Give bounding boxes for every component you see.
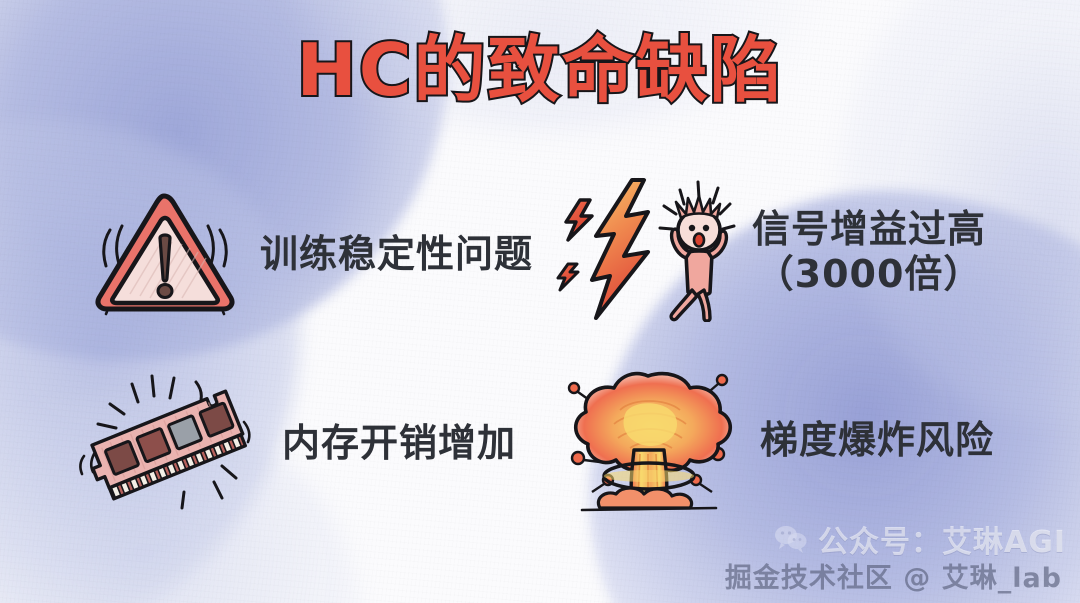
watermark-primary: 掘金技术社区 @ 艾琳_lab (725, 556, 1062, 595)
defect-item-training-stability: 训练稳定性问题 (90, 186, 533, 323)
explosion-mushroom-cloud-icon (548, 358, 748, 523)
wechat-icon (774, 524, 808, 554)
defect-label: 训练稳定性问题 (260, 232, 533, 276)
title-container: HC的致命缺陷 (0, 34, 1080, 106)
defect-item-signal-gain: 信号增益过高 （3000倍） (552, 176, 986, 327)
memory-ram-stick-icon (72, 370, 268, 517)
defect-label: 梯度爆炸风险 (760, 418, 994, 462)
warning-triangle-icon (90, 186, 240, 323)
defect-item-memory-overhead: 内存开销增加 (72, 370, 516, 517)
page-title: HC的致命缺陷 (296, 34, 783, 106)
defect-label-line1: 信号增益过高 (752, 207, 986, 251)
slide-canvas: HC的致命缺陷 (0, 0, 1080, 603)
defect-item-gradient-explosion: 梯度爆炸风险 (548, 358, 994, 523)
watermark-background: 公众号：艾琳AGI (774, 517, 1066, 561)
defect-label: 信号增益过高 （3000倍） (752, 207, 986, 295)
lightning-shocked-person-icon (552, 176, 738, 327)
defect-label: 内存开销增加 (282, 421, 516, 465)
watermark-background-text: 公众号：艾琳AGI (818, 517, 1066, 561)
defect-label-line2: （3000倍） (752, 252, 986, 296)
